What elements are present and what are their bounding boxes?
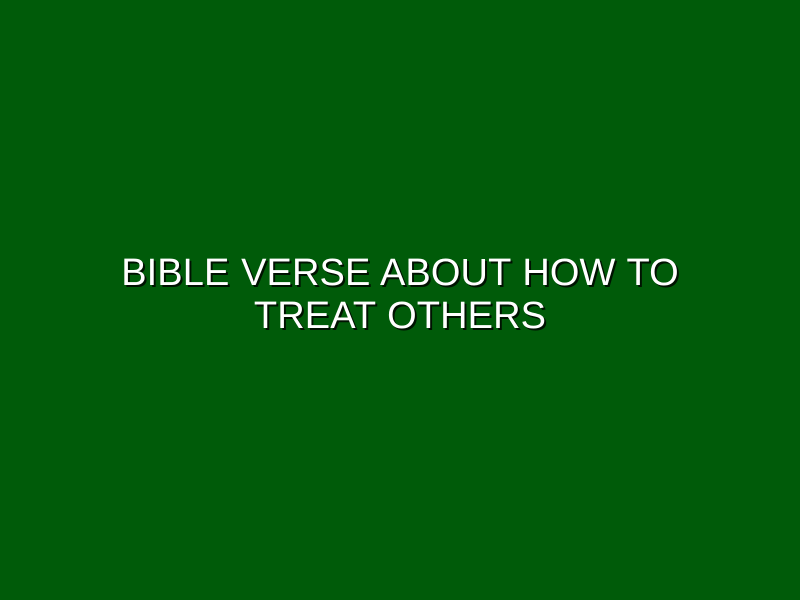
- title-block: BIBLE VERSE ABOUT HOW TO TREAT OTHERS: [0, 252, 800, 338]
- title-card: BIBLE VERSE ABOUT HOW TO TREAT OTHERS: [0, 0, 800, 600]
- page-title: BIBLE VERSE ABOUT HOW TO TREAT OTHERS: [88, 252, 712, 338]
